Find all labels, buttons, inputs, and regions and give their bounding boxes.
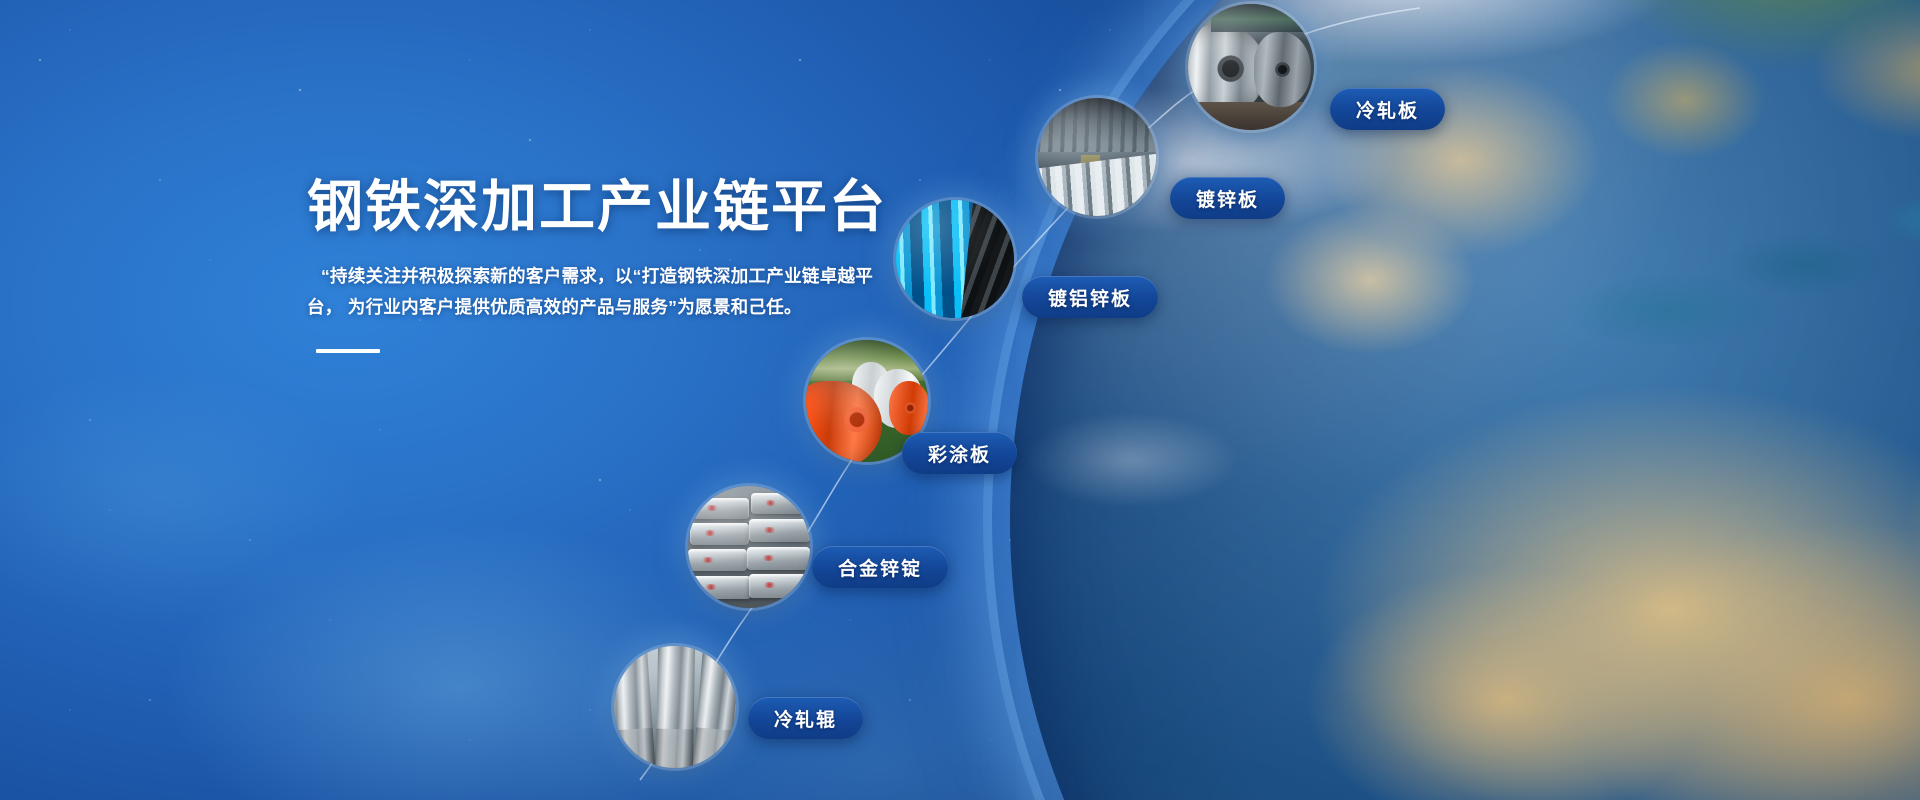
ingot-block [690,576,751,599]
roller-shape [655,646,694,768]
ingot-block [688,549,747,571]
thumb-artwork [688,486,810,608]
product-label-cold-rolling-roller[interactable]: 冷轧辊 [748,697,863,739]
factory-roof-shape [1211,4,1314,32]
hero-banner: 钢铁深加工产业链平台 “持续关注并积极探索新的客户需求，以“打造钢铁深加工产业链… [0,0,1920,800]
roller-shape [614,646,657,768]
ingot-block [749,519,810,542]
thumb-artwork [1038,98,1156,216]
product-label-cold-rolled-plate[interactable]: 冷轧板 [1330,88,1445,130]
factory-floor-shape [1188,102,1314,130]
thumb-artwork [896,200,1014,318]
aluminium-zinc-coated-sheet-photo[interactable] [896,200,1014,318]
ingot-block [747,547,810,570]
zinc-alloy-ingots-photo[interactable] [688,486,810,608]
product-label-zinc-alloy-ingot[interactable]: 合金锌锭 [812,546,948,588]
thumb-artwork [1188,4,1314,130]
ingot-block [693,498,749,519]
ingot-block [690,523,749,545]
headline-block: 钢铁深加工产业链平台 “持续关注并积极探索新的客户需求，以“打造钢铁深加工产业链… [307,176,927,353]
galvanized-coil-warehouse-photo[interactable] [1038,98,1156,216]
cold-rolling-rolls-photo[interactable] [614,646,736,768]
page-subtitle: “持续关注并积极探索新的客户需求，以“打造钢铁深加工产业链卓越平台， 为行业内客… [307,261,875,323]
ingot-block [751,493,807,514]
cold-rolled-steel-coils-photo[interactable] [1188,4,1314,130]
warehouse-aisle-shape [1075,155,1100,216]
orange-coil-shape-2 [889,381,928,435]
headline-divider [316,349,380,353]
product-label-aluzinc-plate[interactable]: 镀铝锌板 [1022,276,1158,318]
subtitle-line-2: 为行业内客户提供优质高效的产品与服务”为愿景和己任。 [348,297,802,317]
roller-shape [692,646,736,768]
ingot-block [749,574,810,598]
page-title: 钢铁深加工产业链平台 [307,176,927,239]
product-label-galvanized-plate[interactable]: 镀锌板 [1170,177,1285,219]
product-label-color-coated-plate[interactable]: 彩涂板 [902,432,1017,474]
thumb-artwork [614,646,736,768]
sheet-edge-stripe [979,200,1002,318]
